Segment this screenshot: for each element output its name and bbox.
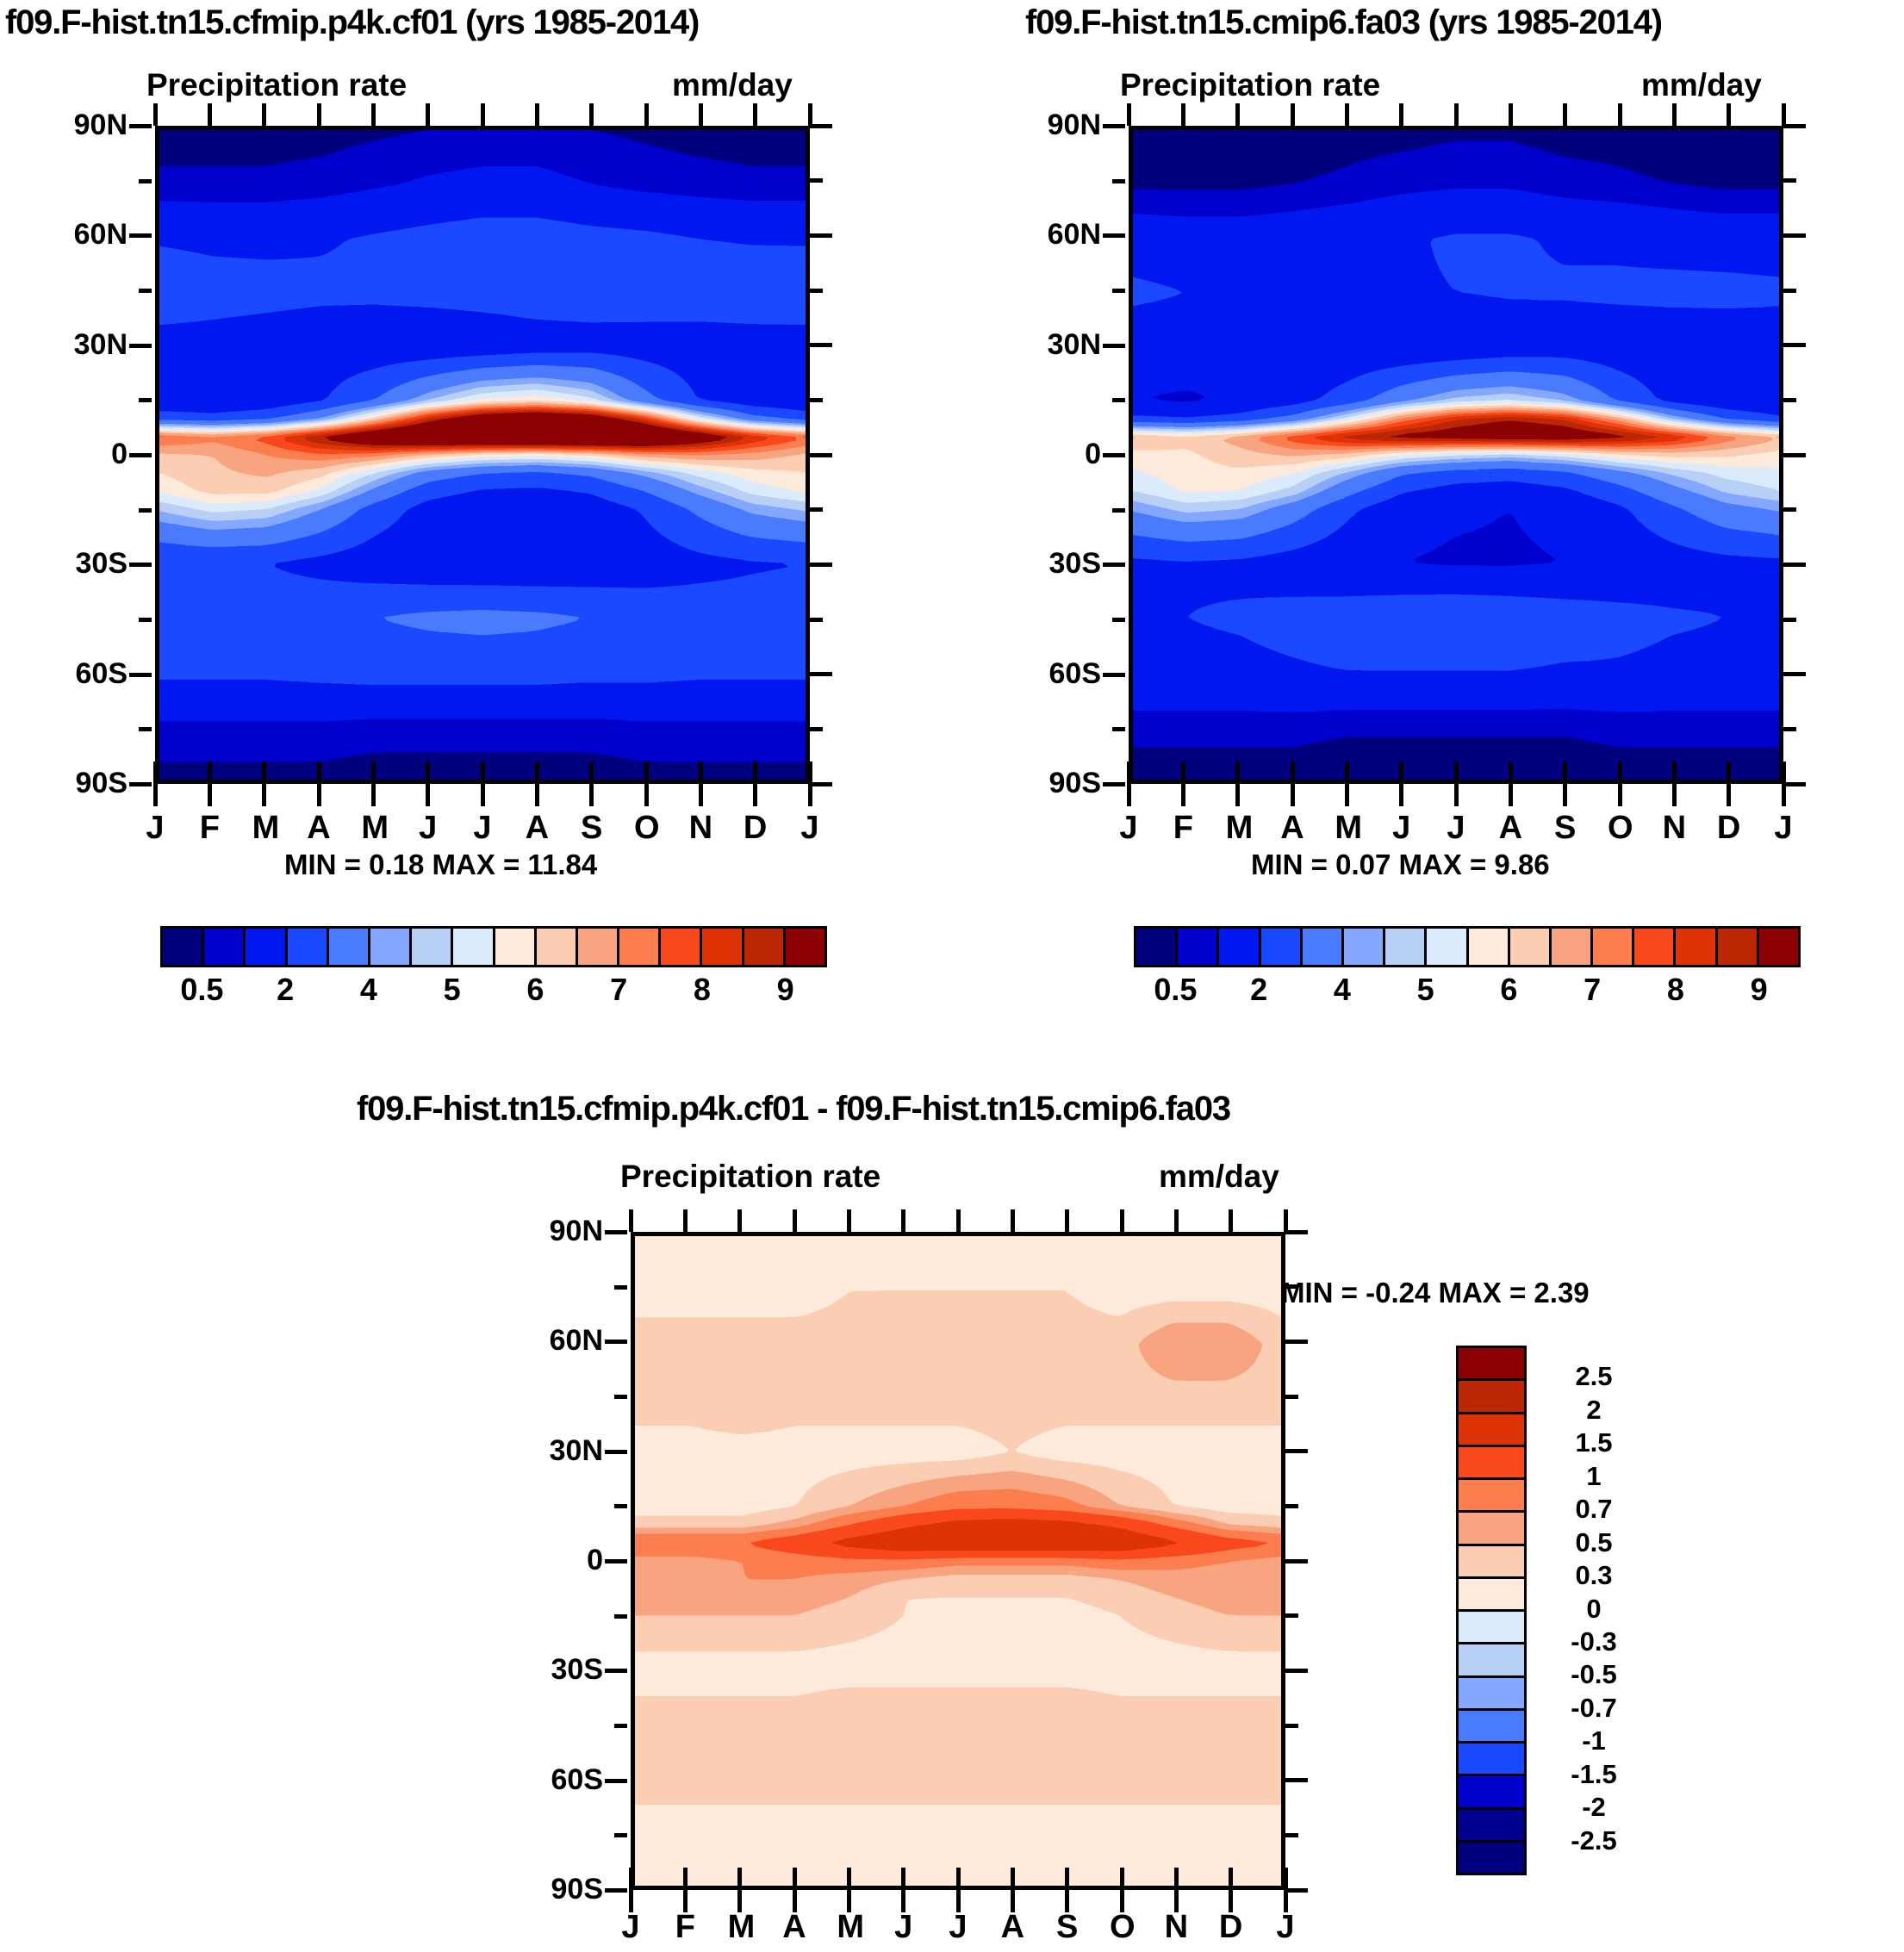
colorbar-tick-label: 2.5: [1542, 1361, 1646, 1392]
y-minor-tick: [139, 179, 152, 183]
y-right-minor-tick: [1783, 507, 1796, 512]
y-right-tick: [810, 343, 832, 347]
y-minor-tick: [139, 398, 152, 402]
x-axis-top-ticks: [155, 103, 810, 126]
y-minor-tick: [1112, 727, 1125, 731]
x-top-tick-mark: [683, 1868, 688, 1890]
y-right-minor-tick: [810, 618, 823, 622]
x-top-tick: [1509, 103, 1513, 126]
y-right-tick: [1285, 1559, 1308, 1563]
colorbar-tick-label: 0.3: [1542, 1560, 1646, 1591]
y-right-minor-tick: [1285, 1613, 1298, 1618]
x-tick-label: J: [143, 810, 167, 847]
colorbar-tick-label: 0.5: [1139, 972, 1211, 1008]
colorbar-tick-label: 0.7: [1542, 1494, 1646, 1525]
x-tick-label: D: [1219, 1909, 1243, 1946]
x-top-tick: [589, 103, 594, 126]
y-minor-tick: [139, 289, 152, 293]
x-top-tick-mark: [1065, 1868, 1069, 1890]
contour-field: [1133, 130, 1779, 780]
colorbar-swatch: [702, 929, 744, 965]
y-right-tick: [1783, 233, 1806, 238]
y-tick-label: 30S: [1049, 547, 1102, 581]
x-tick-label: N: [1662, 810, 1686, 847]
colorbar-top-right: [1134, 926, 1801, 967]
x-top-tick: [317, 103, 321, 126]
panel-title-difference: f09.F-hist.tn15.cfmip.p4k.cf01 - f09.F-h…: [357, 1090, 1230, 1128]
colorbar-swatch: [1459, 1612, 1524, 1644]
x-tick-mark: [1727, 784, 1731, 806]
y-tick-label: 90S: [76, 767, 128, 800]
colorbar-swatch: [786, 929, 824, 965]
colorbar-tick-label: 1.5: [1542, 1427, 1646, 1458]
colorbar-tick-label: 0: [1542, 1594, 1646, 1625]
y-minor-tick: [1112, 508, 1125, 513]
x-top-tick: [1174, 1209, 1179, 1232]
x-top-tick: [1345, 103, 1349, 126]
x-top-tick: [1291, 103, 1295, 126]
x-top-tick-mark: [1291, 762, 1295, 784]
y-right-tick: [810, 453, 832, 457]
colorbar-tick-label: -0.5: [1542, 1659, 1646, 1690]
x-tick-label: J: [798, 810, 822, 847]
x-tick-label: J: [470, 810, 495, 847]
x-top-tick: [901, 1209, 905, 1232]
colorbar-swatch: [1552, 929, 1593, 965]
y-tick-label: 60N: [1048, 218, 1101, 252]
x-top-tick: [208, 103, 212, 126]
x-tick-mark: [262, 784, 266, 806]
y-tick-label: 90S: [551, 1873, 604, 1906]
x-top-tick-mark: [1235, 762, 1240, 784]
colorbar-swatch: [1510, 929, 1552, 965]
x-tick-mark: [426, 784, 430, 806]
colorbar-swatch: [495, 929, 537, 965]
y-tick-label: 90N: [74, 109, 128, 142]
y-right-minor-tick: [810, 727, 823, 731]
units-label-top-right: mm/day: [1641, 67, 1762, 103]
y-tick-label: 30N: [74, 328, 128, 362]
y-right-minor-tick: [1783, 178, 1796, 183]
x-top-tick: [1672, 103, 1677, 126]
y-right-minor-tick: [1783, 289, 1796, 293]
y-right-tick: [1783, 782, 1806, 786]
y-right-minor-tick: [1285, 1724, 1298, 1728]
colorbar-swatch: [1459, 1579, 1524, 1612]
x-top-tick-mark: [847, 1868, 851, 1890]
x-tick-mark: [1672, 784, 1677, 806]
x-top-tick-mark: [153, 762, 158, 784]
x-tick-label: F: [197, 810, 221, 847]
colorbar-swatch: [1459, 1744, 1524, 1776]
x-top-tick-mark: [793, 1868, 797, 1890]
x-tick-label: O: [634, 810, 658, 847]
x-axis-ticks-top-right: [1129, 784, 1783, 810]
x-axis-ticks-top-left: [155, 784, 810, 810]
x-top-tick-mark: [1229, 1868, 1233, 1890]
y-right-tick: [1285, 1340, 1308, 1344]
colorbar-swatch: [1676, 929, 1717, 965]
colorbar-swatch: [1459, 1414, 1524, 1447]
x-tick-label: A: [307, 810, 331, 847]
colorbar-tick-label: 2: [249, 972, 321, 1008]
y-tick-mark: [129, 344, 152, 348]
x-tick-mark: [699, 784, 703, 806]
y-tick-mark: [1103, 782, 1125, 786]
x-top-tick-mark: [589, 762, 594, 784]
x-axis-top-ticks: [1129, 103, 1783, 126]
colorbar-difference: [1456, 1346, 1527, 1875]
colorbar-swatch: [1459, 1810, 1524, 1843]
y-tick-mark: [605, 1559, 627, 1563]
x-top-tick-mark: [753, 762, 757, 784]
colorbar-tick-label: 9: [1723, 972, 1795, 1008]
y-minor-tick: [614, 1614, 627, 1619]
y-right-tick: [1285, 1449, 1308, 1453]
colorbar-tick-label: 8: [666, 972, 738, 1008]
y-minor-tick: [614, 1724, 627, 1728]
x-axis-labels-top-right: JFMAMJJASONDJ: [1129, 810, 1783, 853]
colorbar-tick-label: 5: [416, 972, 488, 1008]
x-tick-mark: [317, 784, 321, 806]
x-top-tick: [1399, 103, 1403, 126]
x-top-tick: [793, 1209, 797, 1232]
y-right-minor-tick: [810, 398, 823, 402]
colorbar-swatch: [1459, 1447, 1524, 1480]
x-top-tick: [683, 1209, 688, 1232]
x-top-tick-mark: [1618, 762, 1622, 784]
colorbar-swatch: [1459, 1843, 1524, 1873]
y-right-tick: [810, 233, 832, 238]
x-tick-label: J: [892, 1909, 916, 1946]
y-right-tick: [810, 563, 832, 567]
variable-label-top-left: Precipitation rate: [146, 67, 407, 103]
y-minor-tick: [1112, 289, 1125, 293]
y-tick-mark: [129, 233, 152, 238]
x-tick-mark: [1509, 784, 1513, 806]
y-right-minor-tick: [810, 289, 823, 293]
colorbar-swatch: [1718, 929, 1759, 965]
x-top-tick-mark: [629, 1868, 633, 1890]
x-top-tick: [1065, 1209, 1069, 1232]
y-tick-label: 90N: [550, 1215, 603, 1248]
x-tick-mark: [644, 784, 649, 806]
y-right-minor-tick: [1285, 1284, 1298, 1289]
y-right-tick: [1783, 343, 1806, 347]
colorbar-tick-label: 0.5: [165, 972, 238, 1008]
y-minor-tick: [614, 1833, 627, 1837]
plot-area-top-left: [155, 126, 810, 784]
x-tick-label: D: [1717, 810, 1741, 847]
y-axis-right-ticks: [810, 126, 836, 784]
x-tick-label: A: [1000, 1909, 1024, 1946]
y-tick-label: 60N: [74, 218, 128, 252]
y-right-tick: [1783, 453, 1806, 457]
y-tick-mark: [129, 673, 152, 677]
x-tick-mark: [153, 784, 158, 806]
x-tick-mark: [1563, 784, 1567, 806]
y-tick-mark: [605, 1888, 627, 1893]
colorbar-tick-label: 9: [750, 972, 822, 1008]
colorbar-swatch: [744, 929, 786, 965]
colorbar-swatch: [288, 929, 329, 965]
x-top-tick-mark: [901, 1868, 905, 1890]
y-axis-labels-difference: 90N60N30N030S60S90S: [526, 1216, 627, 1897]
colorbar-tick-label: -1: [1542, 1725, 1646, 1756]
x-tick-mark: [808, 784, 812, 806]
x-tick-label: J: [1390, 810, 1414, 847]
y-tick-label: 0: [111, 438, 128, 471]
colorbar-labels-top-right: 0.52456789: [1134, 972, 1801, 1011]
y-right-tick: [810, 124, 832, 128]
colorbar-swatch: [1261, 929, 1303, 965]
colorbar-tick-label: 0.5: [1542, 1527, 1646, 1558]
colorbar-swatch: [1469, 929, 1510, 965]
colorbar-swatch: [619, 929, 661, 965]
y-axis-labels-top-left: 90N60N30N030S60S90S: [50, 110, 152, 791]
x-top-tick: [1563, 103, 1567, 126]
plot-area-difference: [631, 1232, 1285, 1890]
x-top-tick: [371, 103, 376, 126]
y-minor-tick: [1112, 398, 1125, 402]
x-top-tick-mark: [481, 762, 485, 784]
y-minor-tick: [614, 1395, 627, 1399]
colorbar-swatch: [1219, 929, 1260, 965]
x-top-tick: [1229, 1209, 1233, 1232]
x-top-tick: [153, 103, 158, 126]
x-tick-label: J: [1771, 810, 1795, 847]
colorbar-tick-label: 7: [1556, 972, 1628, 1008]
x-tick-label: J: [416, 810, 440, 847]
y-tick-mark: [129, 453, 152, 457]
x-tick-label: J: [1117, 810, 1141, 847]
x-tick-label: N: [688, 810, 712, 847]
y-tick-label: 0: [1085, 438, 1101, 471]
variable-label-top-right: Precipitation rate: [1120, 67, 1380, 103]
x-tick-label: S: [1055, 1909, 1080, 1946]
x-top-tick: [1181, 103, 1185, 126]
colorbar-swatch: [661, 929, 702, 965]
x-tick-mark: [1618, 784, 1622, 806]
y-tick-mark: [605, 1450, 627, 1454]
y-right-minor-tick: [1285, 1395, 1298, 1399]
minmax-top-right: MIN = 0.07 MAX = 9.86: [1251, 849, 1550, 881]
y-tick-label: 30N: [550, 1434, 603, 1468]
y-minor-tick: [1112, 618, 1125, 622]
y-right-tick: [1285, 1669, 1308, 1673]
x-top-tick-mark: [1174, 1868, 1179, 1890]
y-axis-right-ticks: [1783, 126, 1809, 784]
colorbar-swatch: [246, 929, 287, 965]
y-tick-mark: [605, 1669, 627, 1673]
x-top-tick: [1120, 1209, 1124, 1232]
colorbar-tick-label: 7: [582, 972, 655, 1008]
x-tick-label: S: [1553, 810, 1577, 847]
colorbar-tick-label: -0.7: [1542, 1693, 1646, 1724]
colorbar-tick-label: 6: [1472, 972, 1545, 1008]
x-top-tick-mark: [535, 762, 539, 784]
colorbar-tick-label: -2.5: [1542, 1825, 1646, 1856]
x-tick-label: F: [673, 1909, 697, 1946]
x-tick-mark: [1235, 784, 1240, 806]
x-top-tick: [262, 103, 266, 126]
y-right-tick: [1285, 1888, 1308, 1893]
colorbar-tick-label: 2: [1223, 972, 1295, 1008]
x-tick-label: M: [252, 810, 277, 847]
colorbar-swatch: [1459, 1513, 1524, 1545]
y-tick-mark: [1103, 453, 1125, 457]
y-tick-mark: [605, 1779, 627, 1783]
x-tick-mark: [1345, 784, 1349, 806]
colorbar-top-left: [160, 926, 827, 967]
plot-area-top-right: [1129, 126, 1783, 784]
x-tick-mark: [1782, 784, 1786, 806]
x-tick-label: J: [1444, 810, 1468, 847]
colorbar-swatch: [1459, 1776, 1524, 1809]
x-tick-mark: [1127, 784, 1131, 806]
colorbar-swatch: [1459, 1480, 1524, 1513]
x-tick-mark: [1454, 784, 1459, 806]
colorbar-swatch: [1593, 929, 1634, 965]
y-right-minor-tick: [1783, 398, 1796, 402]
x-top-tick-mark: [317, 762, 321, 784]
x-tick-label: A: [1498, 810, 1522, 847]
y-tick-mark: [1103, 233, 1125, 238]
y-tick-label: 30N: [1048, 328, 1101, 362]
x-top-tick-mark: [699, 762, 703, 784]
y-right-tick: [1285, 1778, 1308, 1782]
units-label-difference: mm/day: [1159, 1159, 1279, 1195]
y-right-tick: [810, 672, 832, 676]
colorbar-labels-difference: 2.521.510.70.50.30-0.3-0.5-0.7-1-1.5-2-2…: [1542, 1346, 1680, 1875]
x-top-tick: [535, 103, 539, 126]
x-top-tick-mark: [1509, 762, 1513, 784]
panel-title-top-right: f09.F-hist.tn15.cmip6.fa03 (yrs 1985-201…: [1025, 3, 1662, 42]
x-tick-mark: [535, 784, 539, 806]
colorbar-tick-label: 2: [1542, 1395, 1646, 1426]
colorbar-swatch: [1459, 1711, 1524, 1744]
y-minor-tick: [614, 1285, 627, 1290]
y-tick-label: 60S: [551, 1763, 604, 1797]
x-top-tick: [644, 103, 649, 126]
x-tick-label: A: [525, 810, 549, 847]
y-tick-mark: [129, 124, 152, 128]
colorbar-swatch: [1344, 929, 1385, 965]
y-right-tick: [810, 782, 832, 786]
x-tick-mark: [1399, 784, 1403, 806]
y-tick-label: 90N: [1048, 109, 1101, 142]
colorbar-swatch: [204, 929, 246, 965]
y-tick-label: 60S: [1049, 657, 1102, 691]
colorbar-swatch: [412, 929, 453, 965]
colorbar-tick-label: 5: [1390, 972, 1462, 1008]
y-tick-mark: [1103, 673, 1125, 677]
x-top-tick-mark: [1399, 762, 1403, 784]
x-top-tick: [847, 1209, 851, 1232]
contour-field: [159, 130, 806, 780]
colorbar-swatch: [1303, 929, 1344, 965]
y-tick-label: 60N: [550, 1324, 603, 1358]
x-top-tick-mark: [737, 1868, 742, 1890]
x-top-tick: [737, 1209, 742, 1232]
x-top-tick-mark: [1120, 1868, 1124, 1890]
x-top-tick-mark: [1454, 762, 1459, 784]
x-top-tick-mark: [262, 762, 266, 784]
x-tick-label: M: [361, 810, 385, 847]
x-tick-label: N: [1164, 1909, 1188, 1946]
colorbar-swatch: [1385, 929, 1427, 965]
colorbar-swatch: [1459, 1348, 1524, 1381]
y-tick-mark: [1103, 344, 1125, 348]
y-minor-tick: [139, 727, 152, 731]
x-tick-label: J: [946, 1909, 970, 1946]
y-tick-label: 60S: [76, 657, 128, 691]
y-tick-label: 0: [587, 1544, 603, 1577]
x-tick-label: O: [1110, 1909, 1134, 1946]
contour-field: [635, 1236, 1281, 1886]
y-right-minor-tick: [810, 507, 823, 512]
y-tick-mark: [605, 1340, 627, 1344]
x-top-tick: [481, 103, 485, 126]
x-top-tick: [956, 1209, 961, 1232]
colorbar-swatch: [1459, 1546, 1524, 1579]
colorbar-labels-top-left: 0.52456789: [160, 972, 827, 1011]
x-top-tick: [808, 103, 812, 126]
colorbar-swatch: [537, 929, 578, 965]
x-tick-label: M: [1226, 810, 1250, 847]
y-right-minor-tick: [810, 178, 823, 183]
colorbar-tick-label: 6: [499, 972, 571, 1008]
y-tick-label: 90S: [1049, 767, 1102, 800]
x-top-tick: [1782, 103, 1786, 126]
x-tick-label: S: [580, 810, 604, 847]
x-top-tick-mark: [956, 1868, 961, 1890]
x-top-tick-mark: [1127, 762, 1131, 784]
x-top-tick: [629, 1209, 633, 1232]
colorbar-swatch: [1459, 1381, 1524, 1414]
colorbar-tick-label: -0.3: [1542, 1626, 1646, 1657]
minmax-difference: MIN = -0.24 MAX = 2.39: [1281, 1277, 1590, 1309]
x-tick-mark: [1291, 784, 1295, 806]
x-top-tick-mark: [1345, 762, 1349, 784]
x-tick-label: A: [782, 1909, 806, 1946]
y-tick-mark: [605, 1230, 627, 1234]
y-tick-mark: [129, 782, 152, 786]
x-tick-label: J: [1273, 1909, 1297, 1946]
minmax-top-left: MIN = 0.18 MAX = 11.84: [284, 849, 597, 881]
y-tick-mark: [1103, 124, 1125, 128]
x-top-tick: [426, 103, 430, 126]
x-top-tick-mark: [644, 762, 649, 784]
x-tick-label: D: [744, 810, 768, 847]
x-top-tick-mark: [371, 762, 376, 784]
x-tick-label: O: [1608, 810, 1632, 847]
x-axis-labels-difference: JFMAMJJASONDJ: [631, 1909, 1285, 1952]
y-right-tick: [1783, 672, 1806, 676]
x-axis-top-ticks: [631, 1209, 1285, 1232]
y-minor-tick: [139, 508, 152, 513]
x-top-tick-mark: [426, 762, 430, 784]
x-tick-label: A: [1280, 810, 1304, 847]
x-top-tick: [1454, 103, 1459, 126]
x-top-tick-mark: [1672, 762, 1677, 784]
colorbar-tick-label: 8: [1640, 972, 1712, 1008]
x-tick-label: M: [728, 1909, 752, 1946]
colorbar-swatch: [1634, 929, 1676, 965]
x-tick-mark: [208, 784, 212, 806]
x-top-tick: [1284, 1209, 1288, 1232]
y-right-minor-tick: [1783, 727, 1796, 731]
